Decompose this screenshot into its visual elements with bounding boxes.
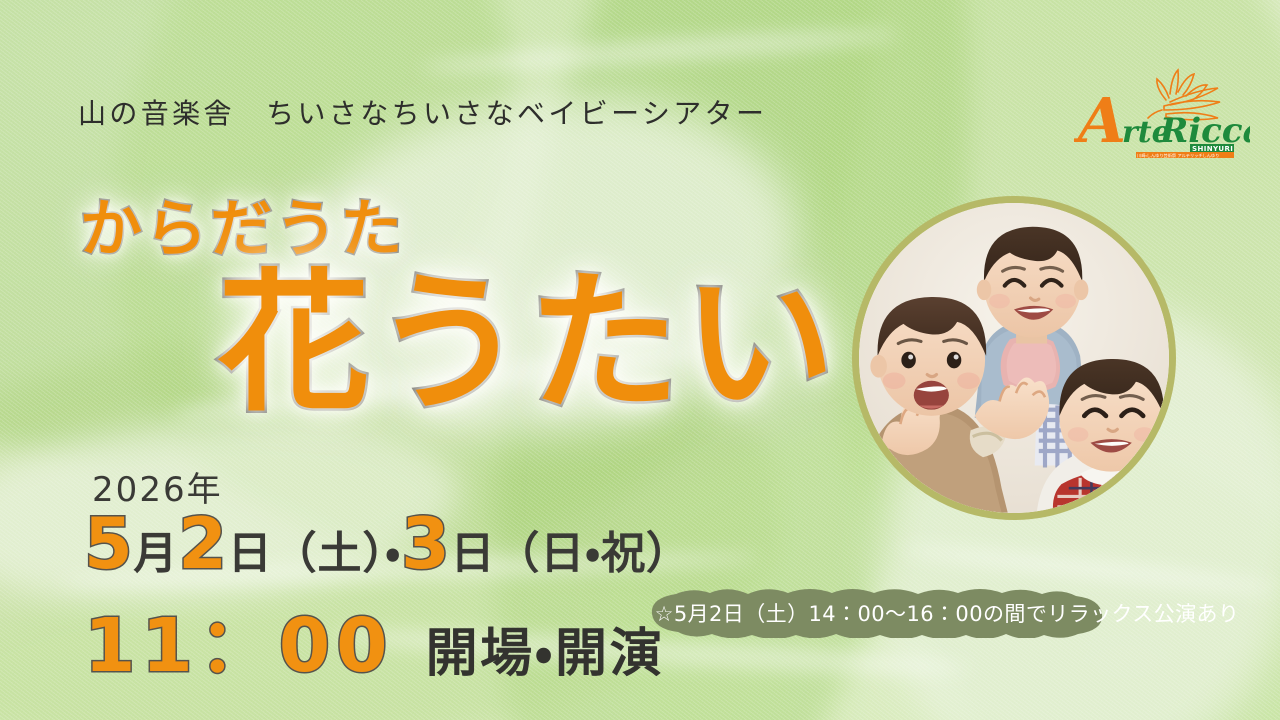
svg-text:SHINYURI: SHINYURI [1192,145,1233,153]
baby-photo [859,203,1169,513]
time-line: 11：00 開場・開演 [84,586,664,693]
relax-banner-text: ☆5月2日（土）14：00〜16：00の間でリラックス公演あり [648,588,1246,638]
date-month-number: 5 [84,503,133,585]
svg-text:A: A [1074,84,1126,157]
date-line: 5 月 2 日（土）・ 3 日（日・祝） [84,503,691,585]
arte-ricca-logo: A rte Ricca SHINYURI 川崎・しんゆり芸術祭 アルテリッチしん… [1074,58,1250,158]
date-month-kanji: 月 [133,517,178,581]
main-title-hanautai: 花うたい [218,262,838,426]
relax-performance-banner: ☆5月2日（土）14：00〜16：00の間でリラックス公演あり [648,588,1246,638]
date-day1-number: 2 [178,503,227,585]
time-label: 開場・開演 [426,611,665,686]
date-day2-number: 3 [401,503,450,585]
baby-photo-circle [852,196,1176,520]
time-value: 11：00 [84,586,394,693]
svg-text:川崎・しんゆり芸術祭 アルテリッチしんゆり: 川崎・しんゆり芸術祭 アルテリッチしんゆり [1137,152,1219,158]
kicker-text: 山の音楽舎 ちいさなちいさなベイビーシアター [78,92,767,132]
date-day2-label: 日（日・祝） [450,517,690,581]
date-day1-label: 日（土）・ [228,517,401,581]
event-poster: 山の音楽舎 ちいさなちいさなベイビーシアター からだうた 花うたい 2026年 … [0,0,1280,720]
